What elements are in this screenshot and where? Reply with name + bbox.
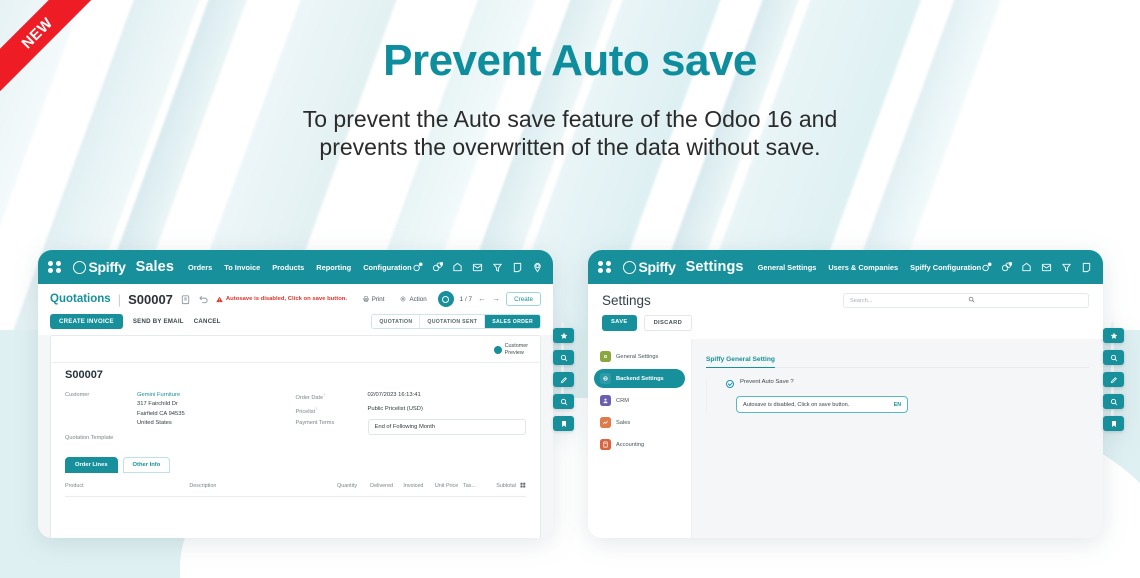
col-delivered: Delivered <box>370 483 403 489</box>
new-ribbon: NEW <box>0 0 96 96</box>
warning-triangle-icon <box>216 296 223 303</box>
location-icon[interactable] <box>1101 262 1103 273</box>
settings-page-title: Settings <box>602 293 651 308</box>
star-icon[interactable] <box>553 328 574 343</box>
sidebar-item-accounting[interactable]: Accounting <box>594 435 685 454</box>
zoom-icon[interactable] <box>553 394 574 409</box>
settings-body: General Settings Backend Settings CRM Sa… <box>588 339 1103 538</box>
sidebar-item-sales[interactable]: Sales <box>594 413 685 432</box>
undo-icon[interactable] <box>198 294 209 305</box>
form-sheet-wrapper: Customer Preview S00007 Customer Gemini … <box>38 335 553 538</box>
sidebar-label: General Settings <box>616 354 658 360</box>
menu-item-reporting[interactable]: Reporting <box>316 263 351 272</box>
brand-name: Spiffy <box>89 259 126 275</box>
search-placeholder: Search... <box>850 298 964 304</box>
language-badge[interactable]: EN <box>894 402 901 408</box>
action-button[interactable]: Action <box>395 293 431 306</box>
messages-icon[interactable] <box>1021 262 1032 273</box>
status-quotation-sent[interactable]: QUOTATION SENT <box>420 315 485 328</box>
column-options-icon[interactable] <box>520 482 526 490</box>
screenshot-sales-quotation: Spiffy Sales Orders To Invoice Products … <box>38 250 553 538</box>
printer-icon <box>363 296 369 302</box>
status-quotation[interactable]: QUOTATION <box>372 315 420 328</box>
sales-app-icon <box>600 417 611 428</box>
sidebar-item-general-settings[interactable]: General Settings <box>594 347 685 366</box>
settings-sidebar: General Settings Backend Settings CRM Sa… <box>588 339 692 538</box>
note-icon[interactable] <box>1081 262 1092 273</box>
cancel-button[interactable]: CANCEL <box>194 318 221 325</box>
sheet-divider <box>51 362 540 363</box>
tab-other-info[interactable]: Other Info <box>123 457 171 473</box>
app-menu: General Settings Users & Companies Spiff… <box>758 263 982 272</box>
spiffy-mark-icon <box>623 261 636 274</box>
menu-item-products[interactable]: Products <box>272 263 304 272</box>
sidebar-label: Sales <box>616 420 630 426</box>
settings-save-button[interactable]: SAVE <box>602 315 637 331</box>
zoom-icon[interactable] <box>1103 394 1124 409</box>
sidebar-item-backend-settings[interactable]: Backend Settings <box>594 369 685 388</box>
odoo-topbar-settings: Spiffy Settings General Settings Users &… <box>588 250 1103 284</box>
col-unit-price: Unit Price <box>435 483 463 489</box>
payment-terms-label: Payment Terms <box>296 419 368 426</box>
pricelist-value[interactable]: Public Pricelist (USD) <box>368 405 423 414</box>
location-icon[interactable] <box>532 262 543 273</box>
col-invoiced: Invoiced <box>403 483 435 489</box>
order-date-value[interactable]: 02/07/2023 16:13:41 <box>368 391 421 400</box>
status-sales-order[interactable]: SALES ORDER <box>485 315 540 328</box>
bug-icon[interactable] <box>412 262 423 273</box>
odoo-topbar-sales: Spiffy Sales Orders To Invoice Products … <box>38 250 553 284</box>
right-floating-toolbar <box>1103 328 1124 431</box>
activity-icon[interactable] <box>432 262 443 273</box>
print-button[interactable]: Print <box>358 293 390 306</box>
menu-item-orders[interactable]: Orders <box>188 263 212 272</box>
settings-control-panel: Settings Search... SAVE DISCARD <box>588 284 1103 339</box>
sidebar-label: CRM <box>616 398 629 404</box>
status-bar: QUOTATION QUOTATION SENT SALES ORDER <box>371 314 541 329</box>
menu-item-users-companies[interactable]: Users & Companies <box>828 263 898 272</box>
order-lines-header: Product Description Quantity Delivered I… <box>65 482 526 497</box>
note-icon[interactable] <box>512 262 523 273</box>
col-subtotal: Subtotal <box>496 483 516 489</box>
hero-block: Prevent Auto save To prevent the Auto sa… <box>0 36 1140 162</box>
app-menu: Orders To Invoice Products Reporting Con… <box>188 263 412 272</box>
breadcrumb-root[interactable]: Quotations <box>50 293 111 305</box>
search-icon[interactable] <box>1103 350 1124 365</box>
bug-icon[interactable] <box>981 262 992 273</box>
sidebar-item-crm[interactable]: CRM <box>594 391 685 410</box>
mail-icon[interactable] <box>472 262 483 273</box>
customer-preview-line2: Preview <box>505 350 528 357</box>
customer-value[interactable]: Gemini Furniture <box>137 391 185 400</box>
tab-order-lines[interactable]: Order Lines <box>65 457 118 473</box>
sidebar-label: Backend Settings <box>616 376 664 382</box>
crm-app-icon <box>600 395 611 406</box>
autosave-message-value: Autosave is disabled, Click on save butt… <box>743 402 894 408</box>
page-title: Prevent Auto save <box>0 36 1140 87</box>
customer-address-line-1: 317 Fairchild Dr <box>137 400 185 409</box>
page-subtitle-line-1: To prevent the Auto save feature of the … <box>0 105 1140 134</box>
col-description: Description <box>189 483 337 489</box>
spiffy-logo: Spiffy <box>623 259 676 275</box>
record-title: S00007 <box>65 369 526 381</box>
customer-preview-button[interactable]: Customer Preview <box>494 343 528 357</box>
page-subtitle-line-2: prevents the overwritten of the data wit… <box>0 133 1140 162</box>
pager-prev-icon[interactable]: ← <box>478 295 486 303</box>
customer-label: Customer <box>65 391 137 398</box>
pencil-icon[interactable] <box>1103 372 1124 387</box>
bookmark-icon[interactable] <box>1103 416 1124 431</box>
notebook-tabs: Order Lines Other Info <box>65 457 526 473</box>
customer-address-line-3: United States <box>137 419 185 428</box>
menu-item-general-settings[interactable]: General Settings <box>758 263 817 272</box>
order-lines-empty-body <box>65 497 526 538</box>
action-label: Action <box>409 296 426 303</box>
col-product: Product <box>65 483 189 489</box>
current-app-name: Sales <box>136 259 174 275</box>
systray-icons <box>981 260 1103 275</box>
spiffy-mark-icon <box>73 261 86 274</box>
form-sheet: Customer Preview S00007 Customer Gemini … <box>50 335 541 538</box>
send-by-email-button[interactable]: SEND BY EMAIL <box>133 318 184 325</box>
systray-icons <box>412 260 553 275</box>
autosave-message-input[interactable]: Autosave is disabled, Click on save butt… <box>736 396 908 413</box>
globe-icon <box>494 346 502 354</box>
autosave-warning: Autosave is disabled, Click on save butt… <box>216 296 347 303</box>
star-icon[interactable] <box>1103 328 1124 343</box>
gear-icon <box>400 296 406 302</box>
prevent-auto-save-checkbox[interactable] <box>726 380 734 388</box>
menu-item-configuration[interactable]: Configuration <box>363 263 411 272</box>
accounting-app-icon <box>600 439 611 450</box>
form-column-right: Order Date? 02/07/2023 16:13:41 Pricelis… <box>296 391 527 445</box>
pencil-icon[interactable] <box>553 372 574 387</box>
order-date-label: Order Date? <box>296 391 368 401</box>
spiffy-app-icon <box>600 373 611 384</box>
settings-main-panel: Spiffy General Setting Prevent Auto Save… <box>692 339 1103 538</box>
search-icon[interactable] <box>553 350 574 365</box>
create-button[interactable]: Create <box>506 292 541 306</box>
megaphone-icon[interactable] <box>1061 262 1072 273</box>
prevent-auto-save-label: Prevent Auto Save ? <box>740 379 794 385</box>
spiffy-logo: Spiffy <box>73 259 126 275</box>
gear-app-icon <box>600 351 611 362</box>
menu-item-to-invoice[interactable]: To Invoice <box>224 263 260 272</box>
megaphone-icon[interactable] <box>492 262 503 273</box>
form-column-left: Customer Gemini Furniture 317 Fairchild … <box>65 391 296 445</box>
bookmark-icon[interactable] <box>553 416 574 431</box>
col-tax: Tax... <box>463 483 496 489</box>
section-header: Spiffy General Setting <box>706 348 1089 368</box>
new-ribbon-label: NEW <box>0 0 96 96</box>
paperclip-icon[interactable] <box>180 294 191 305</box>
save-circle-button[interactable] <box>438 291 454 307</box>
col-quantity: Quantity <box>337 483 370 489</box>
apps-grid-icon[interactable] <box>598 261 611 274</box>
section-title: Spiffy General Setting <box>706 356 775 368</box>
left-floating-toolbar <box>553 328 574 431</box>
apps-grid-icon[interactable] <box>48 261 61 274</box>
menu-item-spiffy-configuration[interactable]: Spiffy Configuration <box>910 263 981 272</box>
messages-icon[interactable] <box>452 262 463 273</box>
screenshot-settings: Spiffy Settings General Settings Users &… <box>588 250 1103 538</box>
breadcrumb-separator: | <box>118 292 121 307</box>
quotation-template-label: Quotation Template <box>65 434 137 441</box>
pager-next-icon[interactable]: → <box>492 295 500 303</box>
sidebar-label: Accounting <box>616 442 644 448</box>
pager-counter: 1 / 7 <box>460 296 472 303</box>
section-content: Prevent Auto Save ? Autosave is disabled… <box>706 379 1089 413</box>
pricelist-label: Pricelist? <box>296 405 368 415</box>
payment-terms-input[interactable]: End of Following Month <box>368 419 527 435</box>
brand-name: Spiffy <box>639 259 676 275</box>
breadcrumb-current: S00007 <box>128 292 173 307</box>
settings-discard-button[interactable]: DISCARD <box>644 315 693 331</box>
search-icon[interactable] <box>968 296 1082 305</box>
customer-address-line-2: Fairfield CA 94535 <box>137 410 185 419</box>
autosave-warning-text: Autosave is disabled, Click on save butt… <box>226 296 347 302</box>
customer-preview-line1: Customer <box>505 343 528 350</box>
activity-icon[interactable] <box>1001 262 1012 273</box>
current-app-name: Settings <box>686 259 744 275</box>
create-invoice-button[interactable]: CREATE INVOICE <box>50 314 123 329</box>
control-panel-sales: Quotations | S00007 Autosave is disabled… <box>38 284 553 335</box>
print-label: Print <box>372 296 385 303</box>
settings-search-input[interactable]: Search... <box>843 293 1089 308</box>
mail-icon[interactable] <box>1041 262 1052 273</box>
